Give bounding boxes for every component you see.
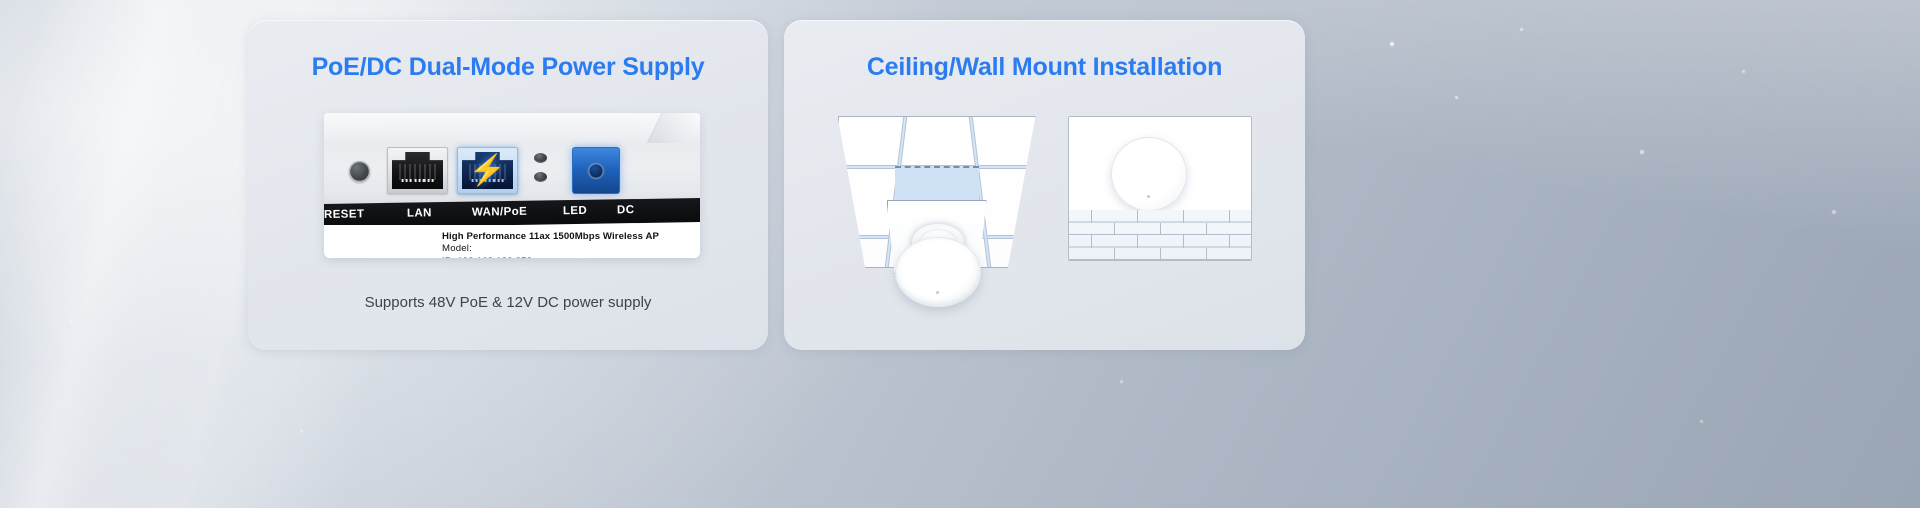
- product-ip-line: IP: 192.168.188.253: [442, 256, 700, 259]
- lightning-bolt-icon: ⚡: [469, 156, 506, 186]
- port-label-reset: RESET: [324, 208, 364, 221]
- ceiling-mount-illustration: [838, 116, 1036, 268]
- access-point-dome-wall: [1111, 137, 1187, 211]
- brick-wall-pattern: [1069, 210, 1251, 260]
- card-poe-dc-power-supply: PoE/DC Dual-Mode Power Supply: [248, 20, 768, 350]
- ceiling-cutout-highlight: [895, 166, 979, 200]
- product-model-line: Model:: [442, 243, 700, 256]
- lan-rj45-port: [387, 147, 448, 194]
- card-title-mount: Ceiling/Wall Mount Installation: [784, 20, 1305, 82]
- port-label-lan: LAN: [407, 207, 432, 219]
- dc-power-jack: [572, 147, 620, 194]
- card-ceiling-wall-mount: Ceiling/Wall Mount Installation: [784, 20, 1305, 350]
- card-title-poe: PoE/DC Dual-Mode Power Supply: [248, 20, 768, 82]
- access-point-dome-ceiling: [895, 237, 981, 307]
- product-headline: High Performance 11ax 1500Mbps Wireless …: [442, 230, 700, 243]
- reset-button-port: [349, 161, 370, 182]
- wan-poe-rj45-port: ⚡: [457, 147, 518, 194]
- feature-cards-row: PoE/DC Dual-Mode Power Supply: [0, 0, 1920, 508]
- led-indicators: [534, 153, 547, 191]
- device-port-labels: RESET LAN WAN/PoE LED DC: [324, 200, 700, 228]
- port-label-wan-poe: WAN/PoE: [472, 206, 527, 219]
- device-photo-poe-ports: ⚡ RESET LAN WAN/PoE LED DC: [324, 113, 700, 258]
- device-port-cluster: ⚡: [324, 141, 700, 197]
- port-label-led: LED: [563, 205, 587, 217]
- wall-mount-illustration: [1068, 116, 1252, 261]
- card-caption-poe: Supports 48V PoE & 12V DC power supply: [248, 294, 768, 311]
- device-product-sticker: High Performance 11ax 1500Mbps Wireless …: [324, 225, 700, 258]
- mount-illustrations: [784, 116, 1305, 306]
- port-label-dc: DC: [617, 204, 635, 216]
